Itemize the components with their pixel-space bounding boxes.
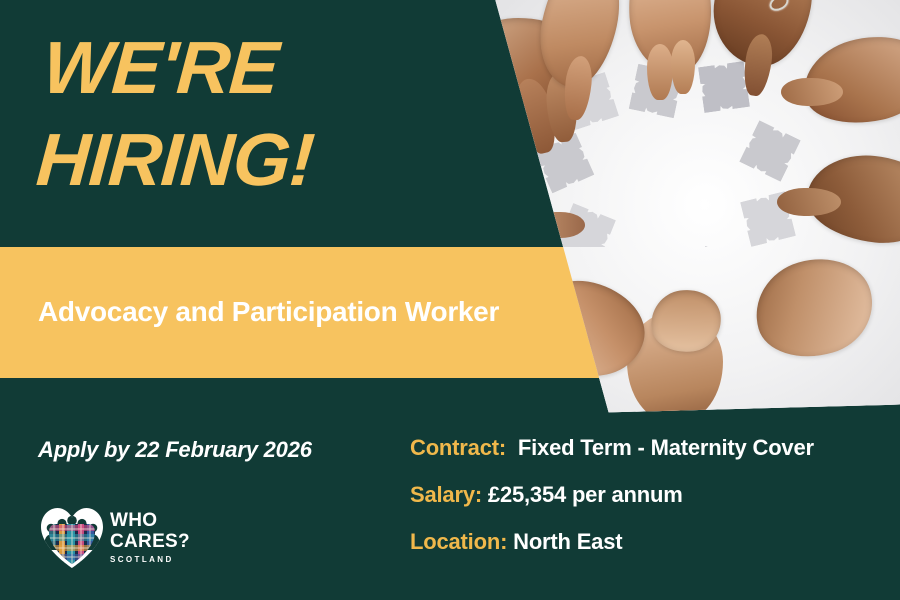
- detail-value-contract: Fixed Term - Maternity Cover: [518, 435, 814, 460]
- job-title: Advocacy and Participation Worker: [38, 296, 499, 328]
- logo-wordmark: WHO CARES? SCOTLAND: [110, 510, 190, 564]
- detail-row: Salary: £25,354 per annum: [410, 482, 890, 508]
- detail-label-contract: Contract:: [410, 435, 506, 460]
- detail-label-location: Location:: [410, 529, 507, 554]
- job-advert-poster: WE'RE HIRING! Advocacy and Participation…: [0, 0, 900, 600]
- detail-value-location: North East: [513, 529, 622, 554]
- who-cares-scotland-logo: WHO CARES? SCOTLAND: [38, 506, 198, 574]
- detail-row: Location: North East: [410, 529, 890, 555]
- headline: WE'RE HIRING!: [34, 22, 324, 206]
- detail-label-salary: Salary:: [410, 482, 482, 507]
- apply-by-date: Apply by 22 February 2026: [38, 437, 312, 463]
- detail-value-salary: £25,354 per annum: [488, 482, 683, 507]
- detail-row: Contract: Fixed Term - Maternity Cover: [410, 435, 890, 461]
- logo-line-who: WHO: [110, 510, 190, 531]
- headline-line-1: WE'RE: [40, 26, 280, 109]
- headline-line-2: HIRING!: [34, 114, 317, 206]
- heart-with-people-tartan-icon: [38, 506, 106, 570]
- logo-line-scotland: SCOTLAND: [110, 555, 190, 564]
- logo-line-cares: CARES?: [110, 531, 190, 552]
- job-details-list: Contract: Fixed Term - Maternity Cover S…: [410, 435, 890, 576]
